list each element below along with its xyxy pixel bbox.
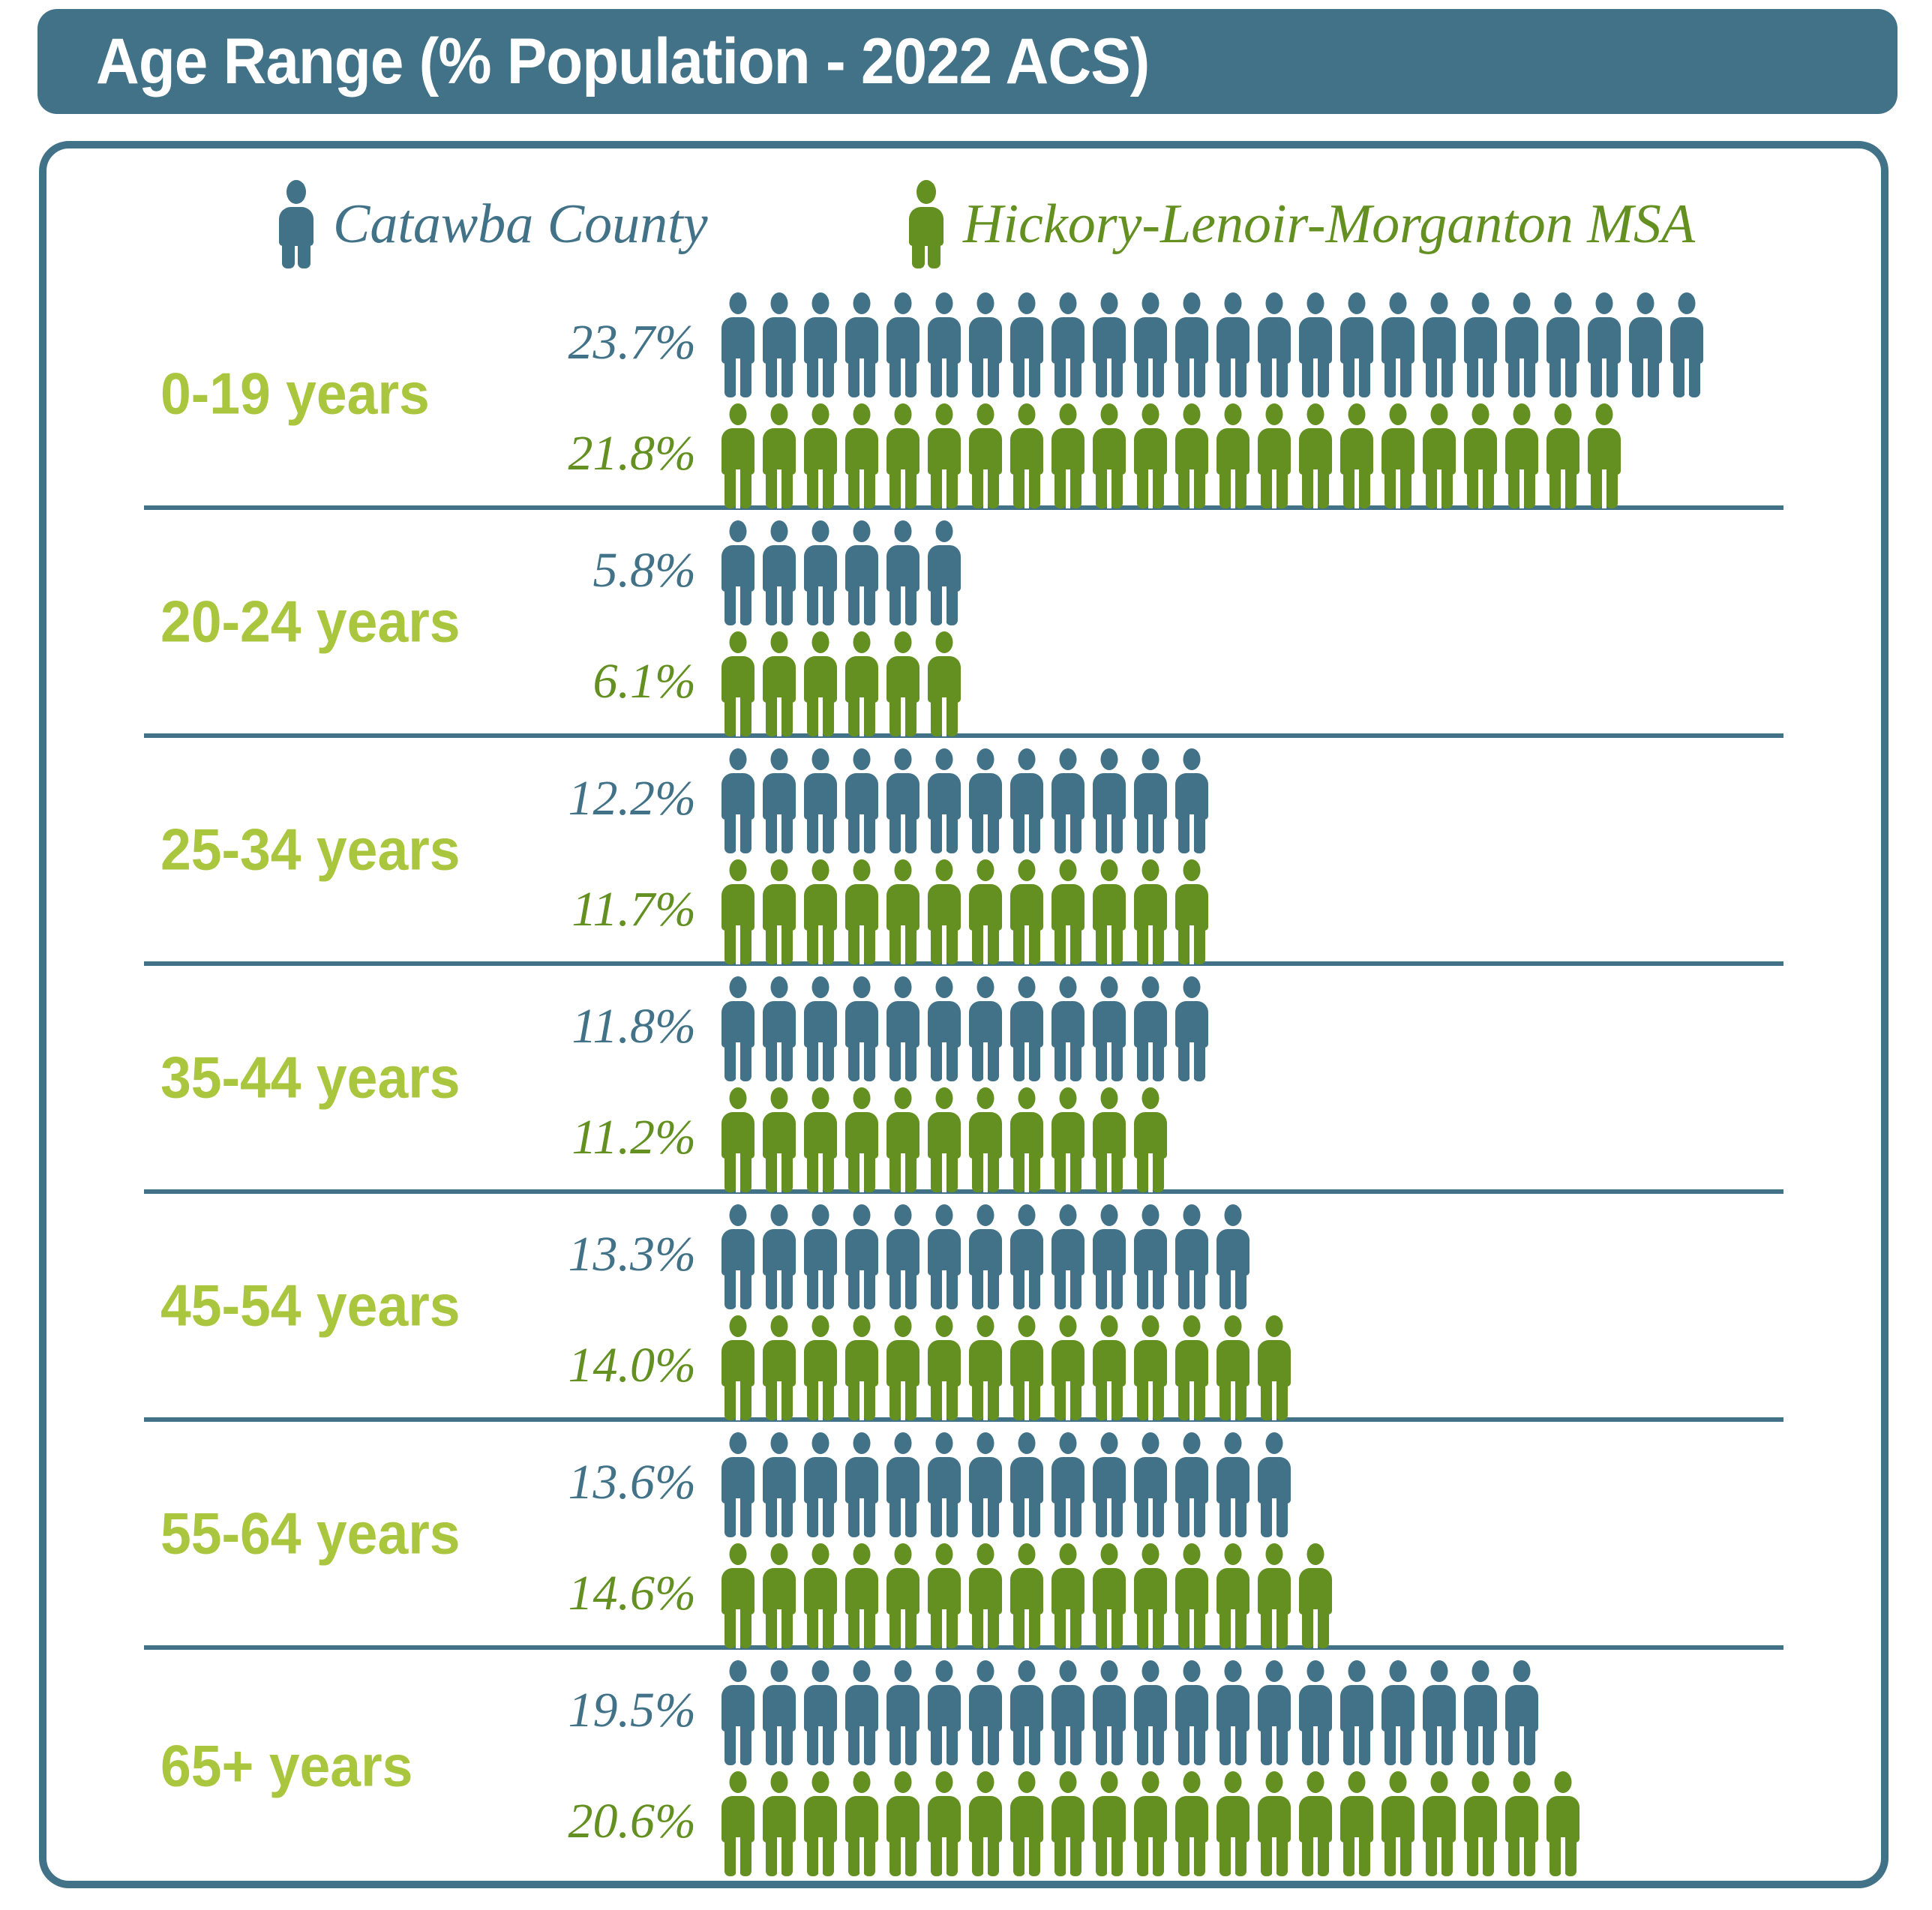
series-catawba-county: 13.6% bbox=[534, 1428, 1299, 1537]
person-icon bbox=[1175, 403, 1208, 508]
person-icon bbox=[928, 1660, 961, 1765]
person-icon bbox=[721, 1315, 754, 1420]
value-label: 13.6% bbox=[534, 1458, 721, 1507]
person-icon bbox=[1093, 748, 1126, 853]
person-icon bbox=[1258, 403, 1291, 508]
person-icon bbox=[721, 1087, 754, 1192]
pictogram-group bbox=[721, 516, 969, 625]
person-icon bbox=[845, 1432, 878, 1537]
person-icon bbox=[1340, 292, 1373, 397]
person-icon bbox=[845, 520, 878, 625]
value-label: 11.8% bbox=[534, 1002, 721, 1051]
value-label: 6.1% bbox=[534, 657, 721, 706]
person-icon bbox=[763, 1543, 796, 1648]
person-icon bbox=[1175, 1204, 1208, 1309]
person-icon bbox=[1051, 859, 1084, 964]
person-icon bbox=[928, 859, 961, 964]
person-icon bbox=[1505, 1771, 1538, 1876]
person-icon bbox=[1093, 1771, 1126, 1876]
person-icon bbox=[845, 403, 878, 508]
person-icon bbox=[1299, 1771, 1332, 1876]
person-icon bbox=[763, 403, 796, 508]
person-icon bbox=[1010, 292, 1043, 397]
person-icon bbox=[1216, 403, 1249, 508]
row-label-age-range: 20-24 years bbox=[160, 588, 460, 656]
row-label-age-range: 55-64 years bbox=[160, 1500, 460, 1568]
person-icon bbox=[928, 403, 961, 508]
value-label: 14.0% bbox=[534, 1341, 721, 1390]
row-label-age-range: 35-44 years bbox=[160, 1044, 460, 1112]
person-icon bbox=[969, 1432, 1002, 1537]
person-icon bbox=[1051, 976, 1084, 1081]
person-icon bbox=[845, 1771, 878, 1876]
pictogram-group bbox=[721, 1428, 1299, 1537]
person-icon bbox=[969, 1087, 1002, 1192]
person-icon bbox=[1134, 1660, 1167, 1765]
person-icon bbox=[1010, 1315, 1043, 1420]
person-icon bbox=[1093, 292, 1126, 397]
person-icon bbox=[1051, 292, 1084, 397]
person-icon bbox=[721, 1543, 754, 1648]
person-icon bbox=[1588, 292, 1621, 397]
person-icon bbox=[1134, 1087, 1167, 1192]
person-icon bbox=[909, 180, 943, 268]
person-icon bbox=[886, 1204, 919, 1309]
person-icon bbox=[886, 859, 919, 964]
person-icon bbox=[1299, 1543, 1332, 1648]
person-icon bbox=[1258, 292, 1291, 397]
person-icon bbox=[1134, 292, 1167, 397]
value-label: 5.8% bbox=[534, 546, 721, 595]
person-icon bbox=[886, 292, 919, 397]
person-icon bbox=[804, 1315, 837, 1420]
person-icon bbox=[928, 1543, 961, 1648]
person-icon bbox=[1175, 1315, 1208, 1420]
pictogram-group bbox=[721, 1767, 1588, 1876]
person-icon bbox=[1175, 748, 1208, 853]
value-label: 12.2% bbox=[534, 774, 721, 823]
person-icon bbox=[845, 748, 878, 853]
person-icon bbox=[886, 1315, 919, 1420]
person-icon bbox=[886, 520, 919, 625]
person-icon bbox=[804, 976, 837, 1081]
page-title: Age Range (% Population - 2022 ACS) bbox=[96, 25, 1149, 99]
person-icon bbox=[928, 1087, 961, 1192]
person-icon bbox=[721, 1432, 754, 1537]
person-icon bbox=[1051, 1771, 1084, 1876]
person-icon bbox=[1134, 976, 1167, 1081]
person-icon bbox=[763, 1660, 796, 1765]
person-icon bbox=[845, 1087, 878, 1192]
value-label: 20.6% bbox=[534, 1797, 721, 1846]
person-icon bbox=[721, 631, 754, 736]
person-icon bbox=[1505, 292, 1538, 397]
person-icon bbox=[1216, 1771, 1249, 1876]
person-icon bbox=[1258, 1432, 1291, 1537]
person-icon bbox=[928, 292, 961, 397]
row-label-age-range: 45-54 years bbox=[160, 1272, 460, 1340]
person-icon bbox=[1010, 859, 1043, 964]
person-icon bbox=[1381, 403, 1414, 508]
person-icon bbox=[1134, 1204, 1167, 1309]
person-icon bbox=[928, 1204, 961, 1309]
person-icon bbox=[804, 1543, 837, 1648]
person-icon bbox=[928, 520, 961, 625]
person-icon bbox=[1423, 1660, 1456, 1765]
person-icon bbox=[1134, 748, 1167, 853]
person-icon bbox=[1381, 1660, 1414, 1765]
person-icon bbox=[1505, 1660, 1538, 1765]
person-icon bbox=[1258, 1543, 1291, 1648]
person-icon bbox=[1093, 1660, 1126, 1765]
person-icon bbox=[928, 748, 961, 853]
person-icon bbox=[886, 631, 919, 736]
person-icon bbox=[1051, 1087, 1084, 1192]
person-icon bbox=[1258, 1660, 1291, 1765]
series-catawba-county: 11.8% bbox=[534, 972, 1216, 1081]
person-icon bbox=[721, 1204, 754, 1309]
person-icon bbox=[804, 631, 837, 736]
chart-row: 35-44 years11.8%11.2% bbox=[144, 966, 1783, 1194]
person-icon bbox=[763, 631, 796, 736]
person-icon bbox=[804, 403, 837, 508]
person-icon bbox=[763, 748, 796, 853]
pictogram-group bbox=[721, 1311, 1299, 1420]
person-icon bbox=[804, 1771, 837, 1876]
series-hickory-msa: 11.7% bbox=[534, 855, 1216, 964]
person-icon bbox=[1258, 1315, 1291, 1420]
value-label: 21.8% bbox=[534, 429, 721, 478]
value-label: 23.7% bbox=[534, 318, 721, 367]
person-icon bbox=[1093, 976, 1126, 1081]
person-icon bbox=[1381, 292, 1414, 397]
person-icon bbox=[1381, 1771, 1414, 1876]
person-icon bbox=[1010, 748, 1043, 853]
person-icon bbox=[1340, 1771, 1373, 1876]
person-icon bbox=[1216, 1315, 1249, 1420]
chart-row: 45-54 years13.3%14.0% bbox=[144, 1194, 1783, 1422]
value-label: 19.5% bbox=[534, 1686, 721, 1735]
person-icon bbox=[1010, 976, 1043, 1081]
pictogram-group bbox=[721, 1200, 1258, 1309]
pictogram-group bbox=[721, 744, 1216, 853]
person-icon bbox=[804, 748, 837, 853]
pictogram-group bbox=[721, 972, 1216, 1081]
person-icon bbox=[928, 1315, 961, 1420]
series-hickory-msa: 14.6% bbox=[534, 1539, 1340, 1648]
person-icon bbox=[1051, 1432, 1084, 1537]
person-icon bbox=[804, 1204, 837, 1309]
person-icon bbox=[1299, 292, 1332, 397]
person-icon bbox=[1464, 292, 1497, 397]
person-icon bbox=[845, 292, 878, 397]
person-icon bbox=[1216, 1543, 1249, 1648]
person-icon bbox=[1423, 292, 1456, 397]
person-icon bbox=[1588, 403, 1621, 508]
person-icon bbox=[969, 976, 1002, 1081]
person-icon bbox=[1546, 403, 1579, 508]
person-icon bbox=[763, 1087, 796, 1192]
value-label: 11.2% bbox=[534, 1113, 721, 1162]
person-icon bbox=[1175, 1771, 1208, 1876]
person-icon bbox=[1423, 1771, 1456, 1876]
chart-rows: 0-19 years23.7%21.8%20-24 years5.8%6.1%2… bbox=[46, 282, 1881, 1882]
person-icon bbox=[1134, 403, 1167, 508]
person-icon bbox=[1216, 1432, 1249, 1537]
legend-item-catawba-county: Catawba County bbox=[279, 180, 708, 268]
chart-row: 25-34 years12.2%11.7% bbox=[144, 738, 1783, 966]
person-icon bbox=[804, 859, 837, 964]
person-icon bbox=[721, 859, 754, 964]
chart-row: 55-64 years13.6%14.6% bbox=[144, 1422, 1783, 1650]
person-icon bbox=[1175, 1660, 1208, 1765]
person-icon bbox=[763, 520, 796, 625]
person-icon bbox=[763, 1432, 796, 1537]
legend-item-hickory-msa: Hickory-Lenoir-Morganton MSA bbox=[909, 180, 1695, 268]
person-icon bbox=[969, 748, 1002, 853]
pictogram-group bbox=[721, 1656, 1546, 1765]
person-icon bbox=[1051, 1204, 1084, 1309]
pictogram-group bbox=[721, 627, 969, 736]
series-hickory-msa: 11.2% bbox=[534, 1083, 1175, 1192]
series-catawba-county: 12.2% bbox=[534, 744, 1216, 853]
person-icon bbox=[1216, 1660, 1249, 1765]
person-icon bbox=[1258, 1771, 1291, 1876]
chart-row: 65+ years19.5%20.6% bbox=[144, 1650, 1783, 1882]
person-icon bbox=[886, 1087, 919, 1192]
person-icon bbox=[1093, 1543, 1126, 1648]
series-catawba-county: 23.7% bbox=[534, 288, 1711, 397]
person-icon bbox=[845, 859, 878, 964]
person-icon bbox=[886, 1660, 919, 1765]
person-icon bbox=[969, 1204, 1002, 1309]
person-icon bbox=[1340, 403, 1373, 508]
person-icon bbox=[969, 859, 1002, 964]
person-icon bbox=[1299, 403, 1332, 508]
person-icon bbox=[1629, 292, 1662, 397]
person-icon bbox=[886, 1771, 919, 1876]
row-label-age-range: 0-19 years bbox=[160, 360, 430, 428]
person-icon bbox=[969, 1543, 1002, 1648]
person-icon bbox=[1464, 1771, 1497, 1876]
person-icon bbox=[845, 631, 878, 736]
person-icon bbox=[1175, 976, 1208, 1081]
person-icon bbox=[763, 859, 796, 964]
chart-panel: Catawba County Hickory-Lenoir-Morganton … bbox=[39, 141, 1888, 1888]
pictogram-group bbox=[721, 399, 1629, 508]
person-icon bbox=[1010, 1660, 1043, 1765]
person-icon bbox=[1134, 859, 1167, 964]
person-icon bbox=[969, 1660, 1002, 1765]
person-icon bbox=[886, 1543, 919, 1648]
person-icon bbox=[1670, 292, 1703, 397]
person-icon bbox=[1134, 1432, 1167, 1537]
person-icon bbox=[1051, 1543, 1084, 1648]
person-icon bbox=[1010, 403, 1043, 508]
value-label: 14.6% bbox=[534, 1569, 721, 1618]
series-hickory-msa: 20.6% bbox=[534, 1767, 1588, 1876]
person-icon bbox=[886, 1432, 919, 1537]
person-icon bbox=[804, 1432, 837, 1537]
person-icon bbox=[969, 403, 1002, 508]
person-icon bbox=[1051, 403, 1084, 508]
person-icon bbox=[1464, 403, 1497, 508]
person-icon bbox=[1051, 1660, 1084, 1765]
person-icon bbox=[721, 520, 754, 625]
person-icon bbox=[1093, 1087, 1126, 1192]
person-icon bbox=[1546, 1771, 1579, 1876]
person-icon bbox=[804, 292, 837, 397]
person-icon bbox=[845, 1315, 878, 1420]
person-icon bbox=[721, 292, 754, 397]
person-icon bbox=[1093, 403, 1126, 508]
person-icon bbox=[763, 1771, 796, 1876]
person-icon bbox=[1546, 292, 1579, 397]
person-icon bbox=[1216, 1204, 1249, 1309]
person-icon bbox=[763, 1204, 796, 1309]
person-icon bbox=[1134, 1315, 1167, 1420]
person-icon bbox=[721, 976, 754, 1081]
legend-label-catawba-county: Catawba County bbox=[333, 193, 708, 256]
series-hickory-msa: 6.1% bbox=[534, 627, 969, 736]
person-icon bbox=[1010, 1087, 1043, 1192]
person-icon bbox=[763, 292, 796, 397]
person-icon bbox=[845, 976, 878, 1081]
person-icon bbox=[845, 1204, 878, 1309]
pictogram-group bbox=[721, 288, 1711, 397]
person-icon bbox=[721, 1660, 754, 1765]
person-icon bbox=[1175, 859, 1208, 964]
title-bar: Age Range (% Population - 2022 ACS) bbox=[37, 9, 1897, 114]
series-catawba-county: 13.3% bbox=[534, 1200, 1258, 1309]
person-icon bbox=[1464, 1660, 1497, 1765]
person-icon bbox=[1175, 1432, 1208, 1537]
person-icon bbox=[1175, 292, 1208, 397]
chart-legend: Catawba County Hickory-Lenoir-Morganton … bbox=[46, 180, 1881, 277]
value-label: 13.3% bbox=[534, 1230, 721, 1279]
person-icon bbox=[845, 1543, 878, 1648]
person-icon bbox=[1093, 1204, 1126, 1309]
row-label-age-range: 25-34 years bbox=[160, 816, 460, 884]
chart-row: 0-19 years23.7%21.8% bbox=[144, 282, 1783, 510]
person-icon bbox=[845, 1660, 878, 1765]
person-icon bbox=[886, 976, 919, 1081]
person-icon bbox=[969, 292, 1002, 397]
row-label-age-range: 65+ years bbox=[160, 1732, 412, 1801]
person-icon bbox=[1010, 1771, 1043, 1876]
person-icon bbox=[763, 1315, 796, 1420]
person-icon bbox=[1175, 1543, 1208, 1648]
person-icon bbox=[763, 976, 796, 1081]
person-icon bbox=[928, 631, 961, 736]
person-icon bbox=[721, 748, 754, 853]
person-icon bbox=[1134, 1771, 1167, 1876]
person-icon bbox=[721, 403, 754, 508]
person-icon bbox=[886, 403, 919, 508]
person-icon bbox=[1093, 859, 1126, 964]
person-icon bbox=[1093, 1315, 1126, 1420]
person-icon bbox=[804, 1660, 837, 1765]
person-icon bbox=[1299, 1660, 1332, 1765]
person-icon bbox=[1423, 403, 1456, 508]
person-icon bbox=[1134, 1543, 1167, 1648]
person-icon bbox=[928, 1771, 961, 1876]
person-icon bbox=[804, 1087, 837, 1192]
series-hickory-msa: 14.0% bbox=[534, 1311, 1299, 1420]
person-icon bbox=[721, 1771, 754, 1876]
person-icon bbox=[804, 520, 837, 625]
person-icon bbox=[928, 976, 961, 1081]
person-icon bbox=[1340, 1660, 1373, 1765]
person-icon bbox=[969, 1771, 1002, 1876]
pictogram-group bbox=[721, 1539, 1340, 1648]
person-icon bbox=[969, 1315, 1002, 1420]
pictogram-group bbox=[721, 1083, 1175, 1192]
value-label: 11.7% bbox=[534, 885, 721, 934]
person-icon bbox=[1051, 1315, 1084, 1420]
person-icon bbox=[1010, 1204, 1043, 1309]
person-icon bbox=[1505, 403, 1538, 508]
person-icon bbox=[279, 180, 313, 268]
series-hickory-msa: 21.8% bbox=[534, 399, 1629, 508]
person-icon bbox=[1010, 1543, 1043, 1648]
person-icon bbox=[1093, 1432, 1126, 1537]
person-icon bbox=[1010, 1432, 1043, 1537]
person-icon bbox=[1216, 292, 1249, 397]
pictogram-group bbox=[721, 855, 1216, 964]
person-icon bbox=[886, 748, 919, 853]
chart-row: 20-24 years5.8%6.1% bbox=[144, 510, 1783, 738]
series-catawba-county: 5.8% bbox=[534, 516, 969, 625]
series-catawba-county: 19.5% bbox=[534, 1656, 1546, 1765]
person-icon bbox=[928, 1432, 961, 1537]
person-icon bbox=[1051, 748, 1084, 853]
legend-label-hickory-msa: Hickory-Lenoir-Morganton MSA bbox=[963, 193, 1695, 256]
